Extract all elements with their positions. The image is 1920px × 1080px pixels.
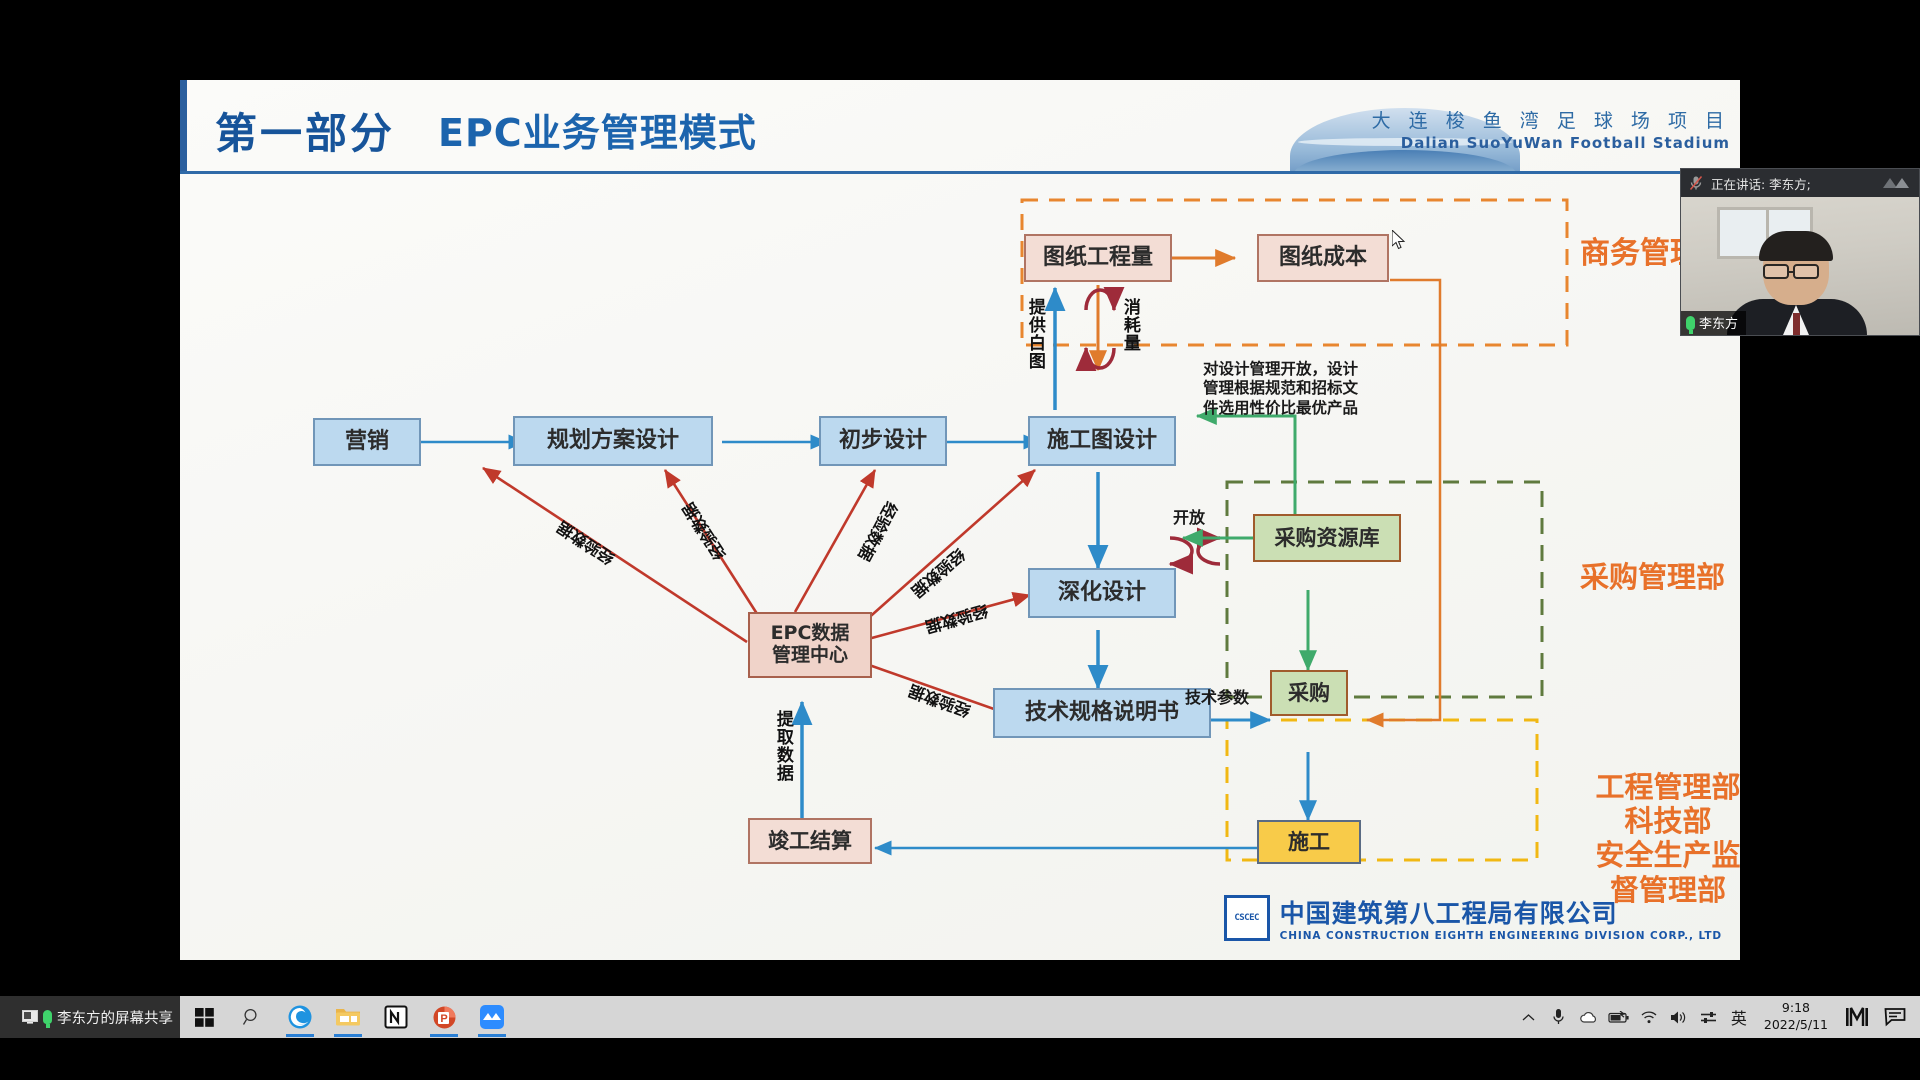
annotation-line-1: 对设计管理开放，设计 bbox=[1203, 360, 1393, 379]
dept-line-3: 安全生产监 bbox=[1568, 838, 1740, 872]
clock-time: 9:18 bbox=[1764, 1000, 1828, 1017]
monitor-icon bbox=[1845, 1007, 1869, 1027]
windows-icon bbox=[195, 1008, 214, 1027]
participant-video-image bbox=[1733, 239, 1861, 335]
node-marketing: 营销 bbox=[313, 418, 421, 466]
video-feed[interactable]: 李东方 bbox=[1681, 197, 1919, 335]
notification-button[interactable] bbox=[1878, 996, 1912, 1038]
dept-label-procurement: 采购管理部 bbox=[1580, 560, 1725, 594]
search-icon bbox=[242, 1007, 262, 1027]
header-accent-bar bbox=[180, 80, 187, 174]
cloud-icon bbox=[1579, 1011, 1598, 1024]
powerpoint-icon: P bbox=[432, 1005, 457, 1030]
powerpoint-button[interactable]: P bbox=[420, 996, 468, 1038]
edge-label-provide-white-drawing: 提供白图 bbox=[1025, 298, 1043, 370]
dept-line-1: 工程管理部 bbox=[1568, 770, 1740, 804]
header-rule bbox=[180, 171, 1740, 174]
node-drawing-quantity: 图纸工程量 bbox=[1024, 234, 1172, 282]
notion-button[interactable] bbox=[372, 996, 420, 1038]
node-construction-drawing: 施工图设计 bbox=[1028, 416, 1176, 466]
battery-icon bbox=[1608, 1011, 1630, 1024]
mic-muted-icon[interactable] bbox=[1689, 175, 1703, 191]
node-deepening-design: 深化设计 bbox=[1028, 568, 1176, 618]
cscec-mark-text: CSCEC bbox=[1234, 913, 1259, 923]
video-thumbnail-panel[interactable]: 正在讲话: 李东方; 李东方 bbox=[1680, 168, 1920, 336]
zoom-icon bbox=[480, 1005, 504, 1029]
participant-name: 李东方 bbox=[1699, 313, 1738, 332]
battery-tray-icon[interactable] bbox=[1606, 996, 1632, 1038]
sliders-icon bbox=[1700, 1010, 1718, 1025]
screen-share-icon bbox=[22, 1010, 38, 1024]
onedrive-tray-icon[interactable] bbox=[1576, 996, 1602, 1038]
annotation-line-3: 件选用性价比最优产品 bbox=[1203, 399, 1393, 418]
zoom-button[interactable] bbox=[468, 996, 516, 1038]
notification-icon bbox=[1884, 1007, 1906, 1027]
start-button[interactable] bbox=[180, 996, 228, 1038]
epc-center-line-1: EPC数据 bbox=[771, 623, 850, 645]
share-indicator-label: 李东方的屏幕共享 bbox=[57, 1007, 173, 1028]
mouse-cursor bbox=[1392, 230, 1406, 250]
edge-label-extract-data: 提取数据 bbox=[773, 710, 791, 782]
microphone-icon bbox=[43, 1010, 52, 1024]
edge-button[interactable] bbox=[276, 996, 324, 1038]
node-procurement-resource: 采购资源库 bbox=[1253, 514, 1401, 562]
show-hidden-icons[interactable] bbox=[1516, 996, 1542, 1038]
svg-text:P: P bbox=[440, 1013, 447, 1025]
shared-screen-area: 第一部分 EPC业务管理模式 大 连 梭 鱼 湾 足 球 场 项 目 Dalia… bbox=[180, 0, 1740, 975]
search-button[interactable] bbox=[228, 996, 276, 1038]
slide-section-label: 第一部分 bbox=[215, 100, 395, 161]
clock-date: 2022/5/11 bbox=[1764, 1017, 1828, 1034]
node-completion-settlement: 竣工结算 bbox=[748, 818, 872, 864]
diagram-connectors bbox=[235, 180, 1735, 940]
edge-label-open: 开放 bbox=[1173, 508, 1205, 528]
slide-title: EPC业务管理模式 bbox=[438, 102, 757, 157]
volume-tray-icon[interactable] bbox=[1666, 996, 1692, 1038]
file-explorer-button[interactable] bbox=[324, 996, 372, 1038]
zoom-logo-icon bbox=[1881, 176, 1911, 190]
annotation-line-2: 管理根据规范和招标文 bbox=[1203, 379, 1393, 398]
node-planning-design: 规划方案设计 bbox=[513, 416, 713, 466]
presentation-slide: 第一部分 EPC业务管理模式 大 连 梭 鱼 湾 足 球 场 项 目 Dalia… bbox=[180, 80, 1740, 960]
ime-indicator[interactable]: 英 bbox=[1726, 996, 1752, 1038]
node-tech-spec: 技术规格说明书 bbox=[993, 688, 1211, 738]
settings-tray-icon[interactable] bbox=[1696, 996, 1722, 1038]
dept-label-engineering: 工程管理部 科技部 安全生产监 督管理部 bbox=[1568, 770, 1740, 907]
node-procurement: 采购 bbox=[1270, 670, 1348, 716]
slide-header: 第一部分 EPC业务管理模式 大 连 梭 鱼 湾 足 球 场 项 目 Dalia… bbox=[180, 80, 1740, 174]
edge-label-tech-params: 技术参数 bbox=[1185, 688, 1249, 708]
cscec-mark-icon: CSCEC bbox=[1224, 895, 1270, 941]
node-drawing-cost: 图纸成本 bbox=[1257, 234, 1389, 282]
company-logo: CSCEC 中国建筑第八工程局有限公司 CHINA CONSTRUCTION E… bbox=[1224, 894, 1722, 942]
speaker-icon bbox=[1669, 1010, 1688, 1025]
microphone-tray-icon[interactable] bbox=[1546, 996, 1572, 1038]
epc-flow-diagram: 营销 规划方案设计 初步设计 施工图设计 深化设计 技术规格说明书 EPC数据 … bbox=[235, 180, 1735, 940]
screen-share-indicator[interactable]: 李东方的屏幕共享 bbox=[0, 996, 180, 1038]
wifi-tray-icon[interactable] bbox=[1636, 996, 1662, 1038]
participant-name-badge: 李东方 bbox=[1681, 311, 1746, 335]
project-name-en: Dalian SuoYuWan Football Stadium bbox=[1401, 134, 1730, 152]
microphone-icon bbox=[1552, 1008, 1565, 1026]
company-name-cn: 中国建筑第八工程局有限公司 bbox=[1280, 894, 1722, 930]
dept-line-2: 科技部 bbox=[1568, 804, 1740, 838]
epc-center-line-2: 管理中心 bbox=[772, 645, 848, 667]
node-preliminary-design: 初步设计 bbox=[819, 416, 947, 466]
windows-taskbar: P bbox=[0, 996, 1920, 1038]
edge-icon bbox=[287, 1004, 313, 1030]
annotation-design-open-note: 对设计管理开放，设计 管理根据规范和招标文 件选用性价比最优产品 bbox=[1203, 360, 1393, 418]
project-name-cn: 大 连 梭 鱼 湾 足 球 场 项 目 bbox=[1372, 106, 1730, 133]
desktop-screen: 第一部分 EPC业务管理模式 大 连 梭 鱼 湾 足 球 场 项 目 Dalia… bbox=[0, 0, 1920, 1080]
video-panel-header: 正在讲话: 李东方; bbox=[1681, 169, 1919, 197]
company-name-en: CHINA CONSTRUCTION EIGHTH ENGINEERING DI… bbox=[1280, 930, 1722, 942]
node-epc-data-center: EPC数据 管理中心 bbox=[748, 612, 872, 678]
taskbar-clock[interactable]: 9:18 2022/5/11 bbox=[1756, 1000, 1836, 1034]
chevron-up-icon bbox=[1522, 1013, 1535, 1022]
folder-icon bbox=[335, 1005, 361, 1029]
wifi-icon bbox=[1640, 1010, 1658, 1024]
app-indicator-icon[interactable] bbox=[1840, 996, 1874, 1038]
node-construction: 施工 bbox=[1257, 820, 1361, 864]
edge-label-consumption: 消耗量 bbox=[1120, 298, 1138, 352]
microphone-icon bbox=[1686, 316, 1695, 330]
notion-icon bbox=[384, 1005, 408, 1029]
speaking-label: 正在讲话: 李东方; bbox=[1711, 174, 1811, 193]
